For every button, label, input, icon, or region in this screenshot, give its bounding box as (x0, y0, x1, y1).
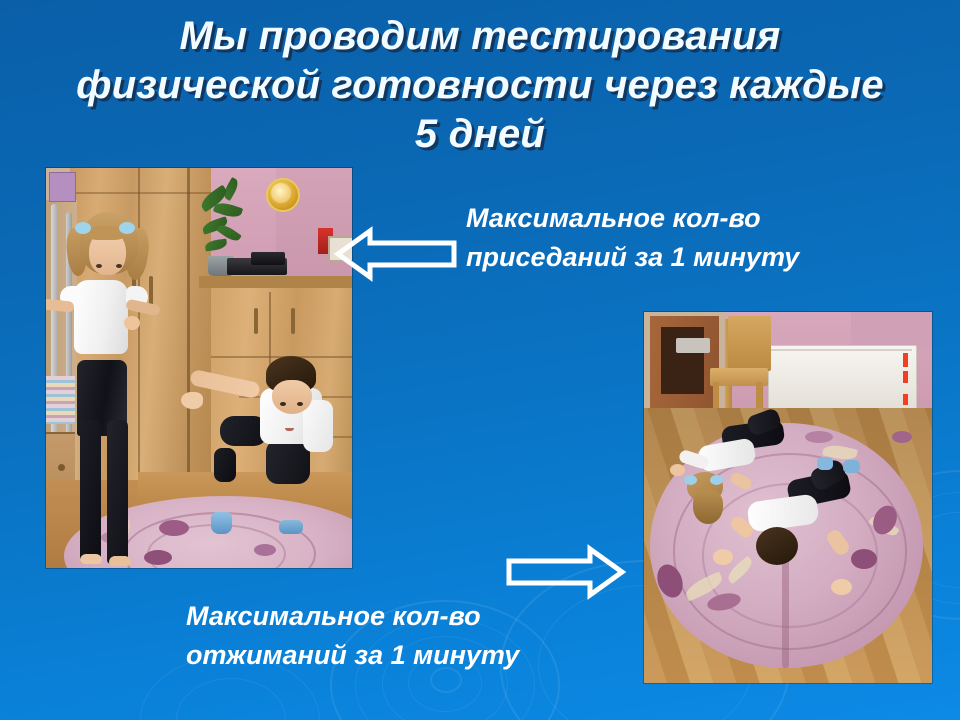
arrow-right-icon (506, 546, 624, 598)
caption-pushups: Максимальное кол-во отжиманий за 1 минут… (186, 597, 586, 675)
arrow-left-icon (336, 226, 456, 282)
photo-squats-scene (46, 168, 352, 568)
photo-squats[interactable] (46, 168, 352, 568)
presentation-slide: Мы проводим тестирования физической гото… (0, 0, 960, 720)
photo-pushups[interactable] (644, 312, 932, 683)
photo-pushups-scene (644, 312, 932, 683)
slide-title: Мы проводим тестирования физической гото… (60, 12, 900, 159)
caption-squats: Максимальное кол-во приседаний за 1 мину… (466, 199, 886, 277)
